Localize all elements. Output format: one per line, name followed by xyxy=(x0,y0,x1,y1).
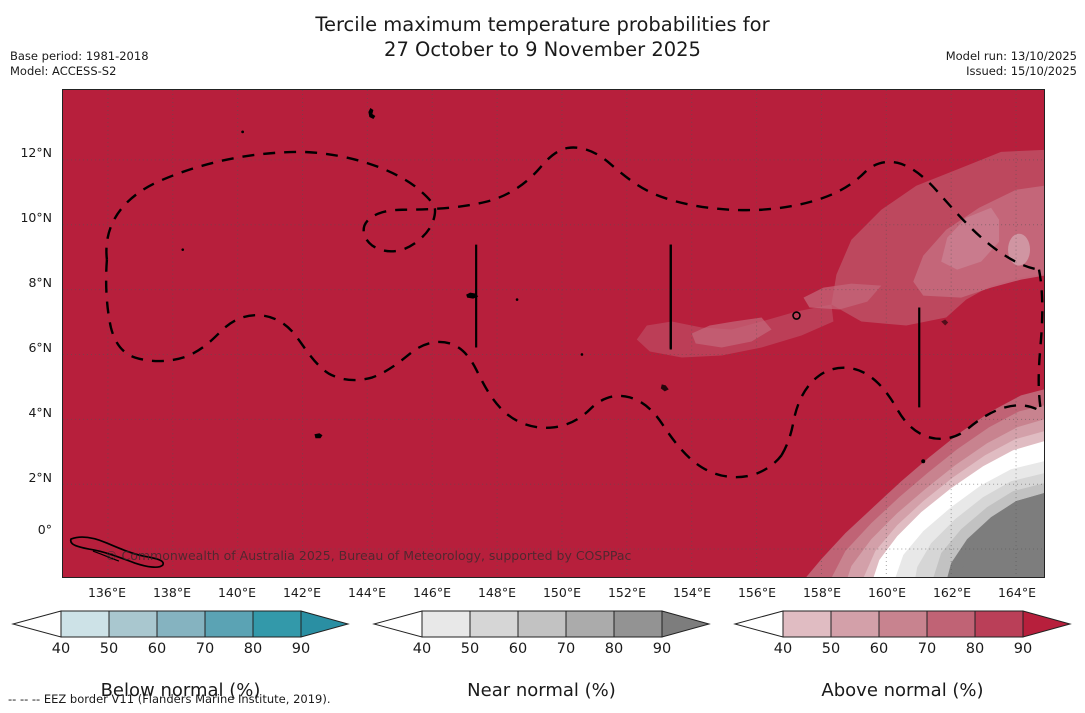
page-title: Tercile maximum temperature probabilitie… xyxy=(0,12,1085,62)
map-raster xyxy=(63,90,1044,578)
issued-text: Issued: 15/10/2025 xyxy=(946,64,1077,79)
cb1-tick-80: 80 xyxy=(605,641,623,657)
x-tick-144E: 144°E xyxy=(337,585,397,600)
x-tick-148E: 148°E xyxy=(467,585,527,600)
cb2-tick-60: 60 xyxy=(870,641,888,657)
x-tick-142E: 142°E xyxy=(272,585,332,600)
cb0-tick-60: 60 xyxy=(148,641,166,657)
y-tick-12N: 12°N xyxy=(0,145,52,160)
x-tick-138E: 138°E xyxy=(142,585,202,600)
cb0-tick-50: 50 xyxy=(100,641,118,657)
x-tick-164E: 164°E xyxy=(987,585,1047,600)
colorbar-near-normal-caption: Near normal (%) xyxy=(361,680,722,701)
map-plot-area: © Commonwealth of Australia 2025, Bureau… xyxy=(62,89,1045,578)
cb1-tick-90: 90 xyxy=(653,641,671,657)
x-tick-158E: 158°E xyxy=(792,585,852,600)
colorbar-near-normal: 40 50 60 70 80 90 Near normal (%) xyxy=(361,607,722,701)
cb0-tick-80: 80 xyxy=(244,641,262,657)
cb1-tick-40: 40 xyxy=(413,641,431,657)
x-tick-160E: 160°E xyxy=(857,585,917,600)
model-text: Model: ACCESS-S2 xyxy=(10,64,149,79)
cb1-tick-50: 50 xyxy=(461,641,479,657)
cb1-tick-70: 70 xyxy=(557,641,575,657)
cb0-tick-70: 70 xyxy=(196,641,214,657)
eez-footnote: -- -- -- EEZ border V11 (Flanders Marine… xyxy=(8,692,330,706)
colorbar-above-normal: 40 50 60 70 80 90 Above normal (%) xyxy=(722,607,1083,701)
x-tick-136E: 136°E xyxy=(77,585,137,600)
cb2-tick-40: 40 xyxy=(774,641,792,657)
x-tick-156E: 156°E xyxy=(727,585,787,600)
x-tick-146E: 146°E xyxy=(402,585,462,600)
model-run-text: Model run: 13/10/2025 xyxy=(946,49,1077,64)
x-tick-154E: 154°E xyxy=(662,585,722,600)
y-tick-2N: 2°N xyxy=(0,470,52,485)
x-tick-150E: 150°E xyxy=(532,585,592,600)
metadata-left: Base period: 1981-2018 Model: ACCESS-S2 xyxy=(10,49,149,78)
colorbar-near-normal-swatches xyxy=(361,607,722,641)
cb1-tick-60: 60 xyxy=(509,641,527,657)
colorbar-above-normal-swatches xyxy=(722,607,1083,641)
cb2-tick-80: 80 xyxy=(966,641,984,657)
y-tick-6N: 6°N xyxy=(0,340,52,355)
cb2-tick-50: 50 xyxy=(822,641,840,657)
cb2-tick-70: 70 xyxy=(918,641,936,657)
cb0-tick-40: 40 xyxy=(52,641,70,657)
colorbar-below-normal: 40 50 60 70 80 90 Below normal (%) xyxy=(0,607,361,701)
title-line-1: Tercile maximum temperature probabilitie… xyxy=(0,12,1085,37)
y-tick-4N: 4°N xyxy=(0,405,52,420)
cb2-tick-90: 90 xyxy=(1014,641,1032,657)
x-tick-152E: 152°E xyxy=(597,585,657,600)
y-tick-0: 0° xyxy=(0,522,52,537)
cb0-tick-90: 90 xyxy=(292,641,310,657)
colorbar-below-normal-swatches xyxy=(0,607,361,641)
y-tick-10N: 10°N xyxy=(0,210,52,225)
metadata-right: Model run: 13/10/2025 Issued: 15/10/2025 xyxy=(946,49,1077,78)
x-tick-140E: 140°E xyxy=(207,585,267,600)
map-attribution: © Commonwealth of Australia 2025, Bureau… xyxy=(105,548,631,563)
base-period-text: Base period: 1981-2018 xyxy=(10,49,149,64)
colorbar-above-normal-caption: Above normal (%) xyxy=(722,680,1083,701)
title-line-2: 27 October to 9 November 2025 xyxy=(0,37,1085,62)
y-tick-8N: 8°N xyxy=(0,275,52,290)
x-tick-162E: 162°E xyxy=(922,585,982,600)
